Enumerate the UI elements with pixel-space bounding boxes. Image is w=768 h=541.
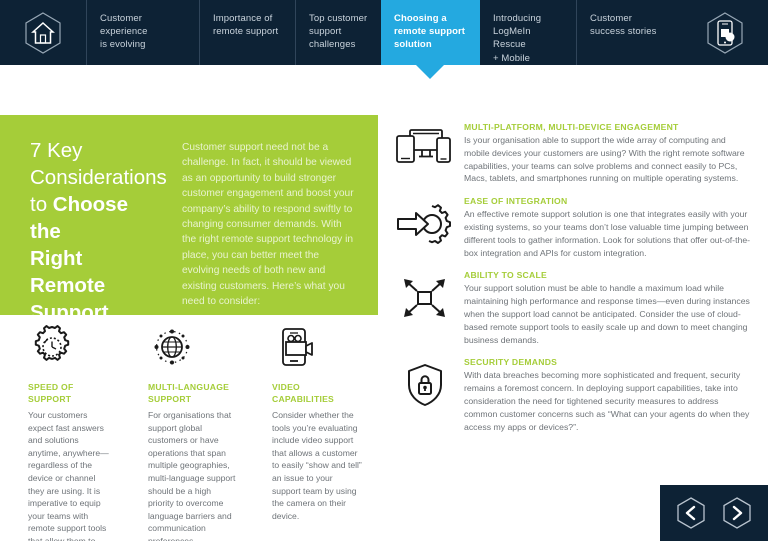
nav-item-label: Customer success stories <box>590 12 656 38</box>
feature-heading: MULTI-LANGUAGE SUPPORT <box>148 382 236 405</box>
chevron-right-hexagon-icon[interactable] <box>717 495 757 531</box>
feature-column-video-capabilities: VIDEO CAPABILITIES Consider whether the … <box>252 322 378 537</box>
hero-title-line-3-plain: to <box>30 193 53 216</box>
hero-title: 7 Key Considerations to Choose the Right… <box>0 115 160 315</box>
consideration-body: Your support solution must be able to ha… <box>464 282 752 346</box>
nav-item-customer-experience[interactable]: Customer experience is evolving <box>86 0 199 65</box>
consideration-ease-of-integration: EASE OF INTEGRATION An effective remote … <box>386 196 768 259</box>
scale-expand-arrows-icon <box>386 270 464 346</box>
arrow-gear-integration-icon <box>386 196 464 259</box>
feature-body: Consider whether the tools you’re evalua… <box>272 409 362 522</box>
considerations-list: MULTI-PLATFORM, MULTI-DEVICE ENGAGEMENT … <box>386 122 768 444</box>
nav-item-label: Introducing LogMeIn Rescue + Mobile <box>493 12 566 65</box>
consideration-multi-platform: MULTI-PLATFORM, MULTI-DEVICE ENGAGEMENT … <box>386 122 768 185</box>
consideration-body: With data breaches becoming more sophist… <box>464 369 752 433</box>
feature-heading: SPEED OF SUPPORT <box>28 382 110 405</box>
hero-title-line-2: Considerations <box>30 166 167 189</box>
home-hexagon-icon[interactable] <box>0 0 86 65</box>
multi-device-screens-icon <box>386 122 464 185</box>
consideration-body: Is your organisation able to support the… <box>464 134 752 185</box>
feature-columns: SPEED OF SUPPORT Your customers expect f… <box>0 322 378 537</box>
nav-item-label: Customer experience is evolving <box>100 12 147 52</box>
hero-panel: 7 Key Considerations to Choose the Right… <box>0 115 378 315</box>
nav-item-label: Top customer support challenges <box>309 12 367 52</box>
consideration-heading: MULTI-PLATFORM, MULTI-DEVICE ENGAGEMENT <box>464 122 752 132</box>
hero-title-line-1: 7 Key <box>30 139 82 162</box>
top-navigation-bar: Customer experience is evolving Importan… <box>0 0 768 65</box>
nav-item-choosing-remote-support-solution[interactable]: Choosing a remote support solution <box>381 0 480 65</box>
gear-clock-icon <box>28 322 110 372</box>
consideration-heading: EASE OF INTEGRATION <box>464 196 752 206</box>
pagination-controls <box>660 485 768 541</box>
feature-column-multi-language-support: MULTI-LANGUAGE SUPPORT For organisations… <box>126 322 252 537</box>
nav-item-customer-success-stories[interactable]: Customer success stories <box>576 0 669 65</box>
mobile-support-hexagon-icon[interactable] <box>682 0 768 65</box>
nav-item-label: Choosing a remote support solution <box>394 12 465 52</box>
nav-item-label: Importance of remote support <box>213 12 278 38</box>
feature-heading: VIDEO CAPABILITIES <box>272 382 362 405</box>
nav-item-importance-remote-support[interactable]: Importance of remote support <box>199 0 295 65</box>
phone-video-camera-icon <box>272 322 362 372</box>
shield-lock-icon <box>386 357 464 433</box>
hero-title-line-4: Right Remote <box>30 247 105 297</box>
consideration-heading: ABILITY TO SCALE <box>464 270 752 280</box>
hero-title-line-5: Support <box>30 301 109 324</box>
active-tab-pointer <box>416 65 444 79</box>
consideration-ability-to-scale: ABILITY TO SCALE Your support solution m… <box>386 270 768 346</box>
chevron-left-hexagon-icon[interactable] <box>671 495 711 531</box>
nav-item-introducing-logmein-rescue[interactable]: Introducing LogMeIn Rescue + Mobile <box>480 0 576 65</box>
globe-network-icon <box>148 322 236 372</box>
feature-body: For organisations that support global cu… <box>148 409 236 541</box>
consideration-heading: SECURITY DEMANDS <box>464 357 752 367</box>
nav-item-list: Customer experience is evolving Importan… <box>86 0 682 65</box>
consideration-security-demands: SECURITY DEMANDS With data breaches beco… <box>386 357 768 433</box>
nav-item-top-customer-support-challenges[interactable]: Top customer support challenges <box>295 0 381 65</box>
feature-column-speed-of-support: SPEED OF SUPPORT Your customers expect f… <box>0 322 126 537</box>
consideration-body: An effective remote support solution is … <box>464 208 752 259</box>
hero-body-text: Customer support need not be a challenge… <box>160 115 378 315</box>
feature-body: Your customers expect fast answers and s… <box>28 409 110 541</box>
infographic-page: Customer experience is evolving Importan… <box>0 0 768 541</box>
